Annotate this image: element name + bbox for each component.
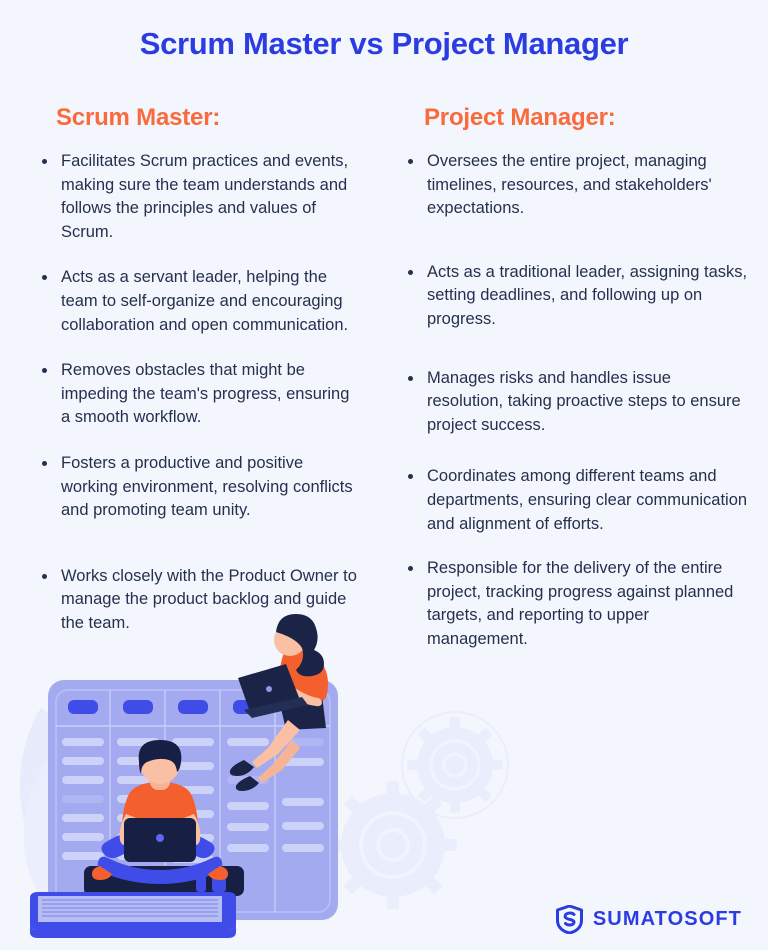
- list-item: Works closely with the Product Owner to …: [38, 565, 362, 636]
- column-heading-scrum-master: Scrum Master:: [56, 104, 362, 132]
- list-item: Manages risks and handles issue resoluti…: [404, 367, 750, 438]
- list-item: Oversees the entire project, managing ti…: [404, 150, 750, 221]
- list-item: Coordinates among different teams and de…: [404, 465, 750, 536]
- bullet-list-scrum-master: Facilitates Scrum practices and events, …: [38, 150, 362, 636]
- bullet-list-project-manager: Oversees the entire project, managing ti…: [404, 150, 750, 652]
- comparison-columns: Scrum Master: Facilitates Scrum practice…: [0, 104, 768, 673]
- infographic-page: Scrum Master vs Project Manager Scrum Ma…: [0, 0, 768, 950]
- page-title: Scrum Master vs Project Manager: [0, 26, 768, 62]
- list-item: Removes obstacles that might be impeding…: [38, 359, 362, 430]
- list-item: Acts as a traditional leader, assigning …: [404, 261, 750, 332]
- list-item: Acts as a servant leader, helping the te…: [38, 266, 362, 337]
- list-item: Facilitates Scrum practices and events, …: [38, 150, 362, 244]
- shield-s-icon: [556, 905, 583, 934]
- column-heading-project-manager: Project Manager:: [424, 104, 750, 132]
- column-scrum-master: Scrum Master: Facilitates Scrum practice…: [0, 104, 384, 673]
- brand-logo: SUMATOSOFT: [556, 905, 742, 934]
- list-item: Responsible for the delivery of the enti…: [404, 557, 750, 651]
- logo-wordmark: SUMATOSOFT: [593, 908, 742, 931]
- list-item: Fosters a productive and positive workin…: [38, 452, 362, 523]
- column-project-manager: Project Manager: Oversees the entire pro…: [384, 104, 768, 673]
